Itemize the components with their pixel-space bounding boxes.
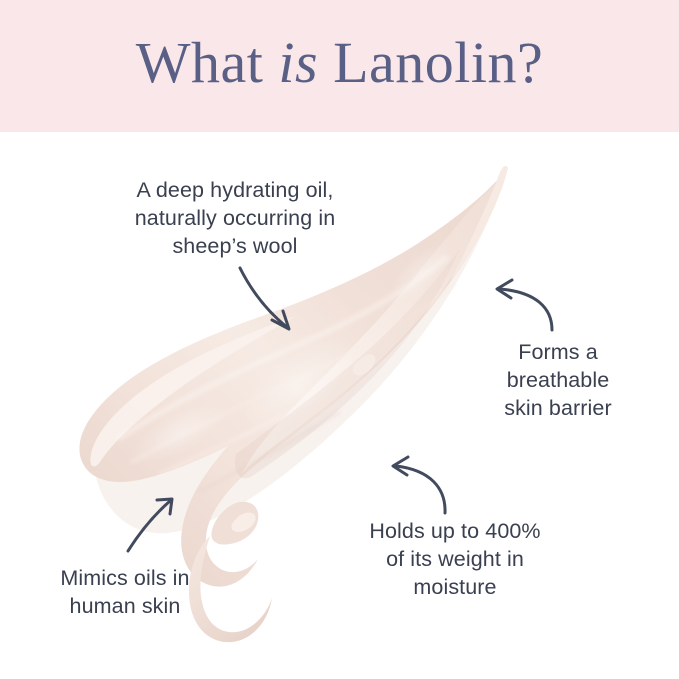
page-title-part1: What: [136, 30, 279, 95]
callout-line: breathable: [478, 366, 638, 394]
callout-line: skin barrier: [478, 394, 638, 422]
page-title: What is Lanolin?: [136, 34, 543, 98]
callout-line: of its weight in: [335, 545, 575, 573]
callout-line: human skin: [35, 592, 215, 620]
callout-line: naturally occurring in: [94, 204, 376, 232]
page-title-part2: Lanolin?: [318, 30, 543, 95]
callout-line: Holds up to 400%: [335, 517, 575, 545]
page-title-emphasis: is: [278, 30, 318, 95]
lanolin-infographic: What is Lanolin?: [0, 0, 679, 679]
callout-line: Mimics oils in: [35, 564, 215, 592]
callout-skin-barrier: Forms a breathable skin barrier: [478, 338, 638, 422]
callout-line: Forms a: [478, 338, 638, 366]
callout-moisture-capacity: Holds up to 400% of its weight in moistu…: [335, 517, 575, 601]
callout-line: A deep hydrating oil,: [94, 176, 376, 204]
callout-line: sheep’s wool: [94, 232, 376, 260]
callout-line: moisture: [335, 573, 575, 601]
header-band: What is Lanolin?: [0, 0, 679, 132]
callout-mimics-skin-oils: Mimics oils in human skin: [35, 564, 215, 620]
callout-hydrating-oil: A deep hydrating oil, naturally occurrin…: [94, 176, 376, 260]
